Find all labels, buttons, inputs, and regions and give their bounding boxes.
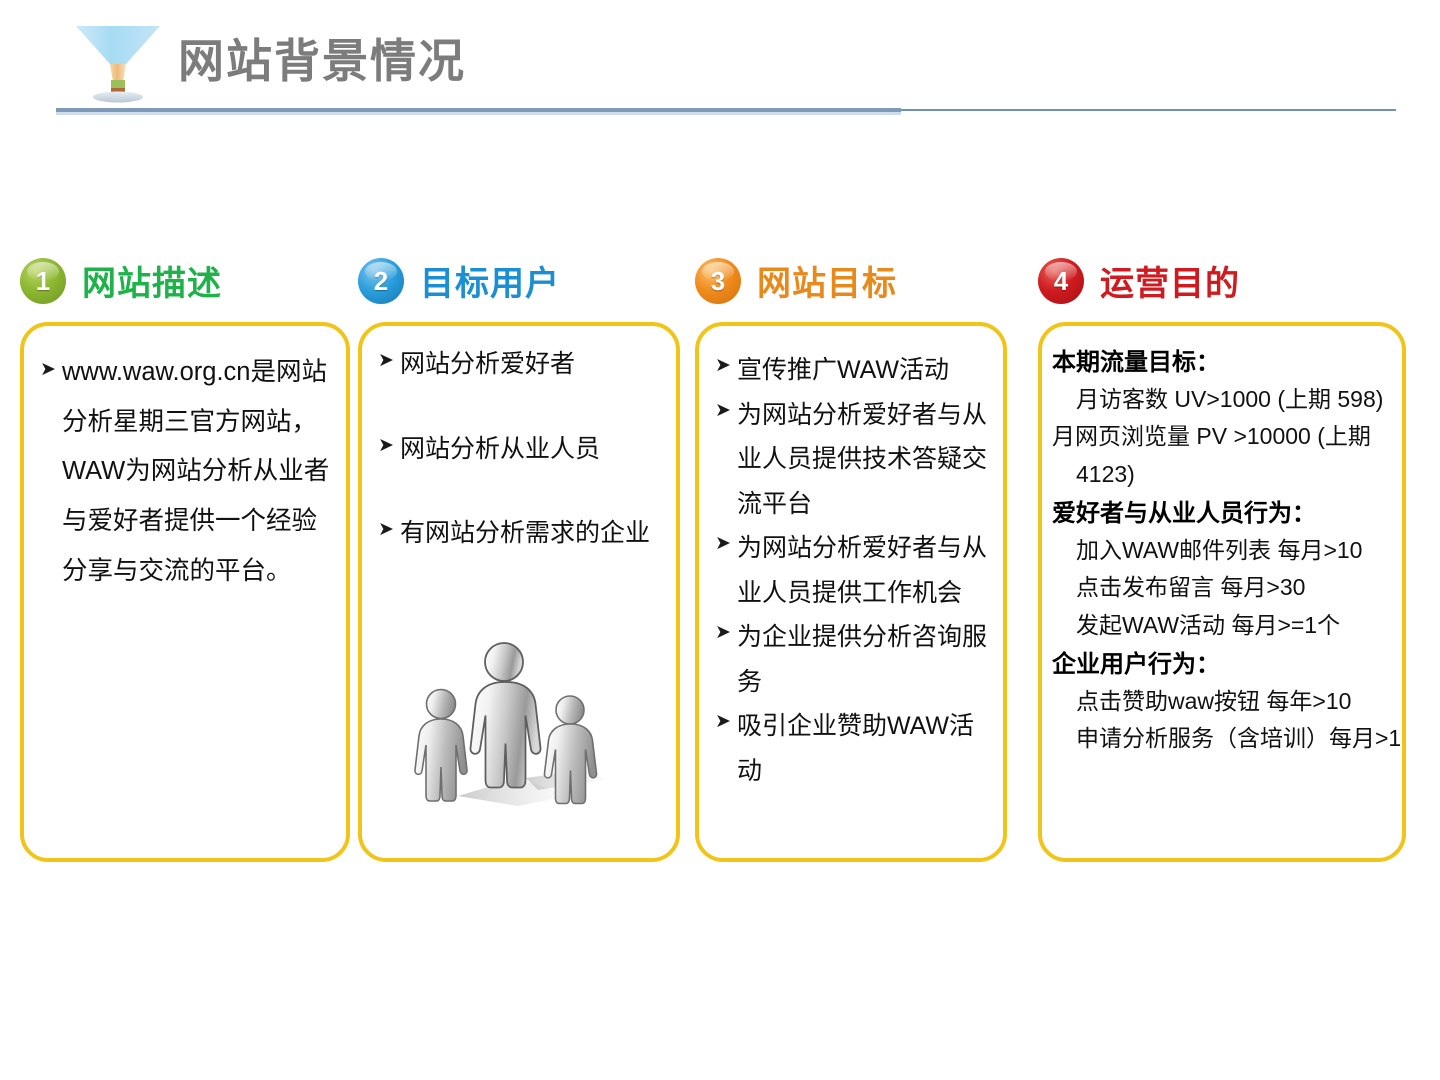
column-4-content: 本期流量目标： 月访客数 UV>1000 (上期 598) 月网页浏览量 PV … <box>1042 326 1402 768</box>
column-3-box: 宣传推广WAW活动 为网站分析爱好者与从业人员提供技术答疑交流平台 为网站分析爱… <box>695 322 1007 862</box>
group-title: 爱好者与从业人员行为： <box>1052 495 1394 532</box>
column-1-content: www.waw.org.cn是网站分析星期三官方网站，WAW为网站分析从业者与爱… <box>24 326 346 607</box>
list-item: 为网站分析爱好者与从业人员提供工作机会 <box>715 526 989 615</box>
metric-item: 月网页浏览量 PV >10000 (上期 4123) <box>1052 418 1394 493</box>
page-title: 网站背景情况 <box>178 36 466 87</box>
list-item: 网站分析爱好者 <box>378 348 662 381</box>
column-3-content: 宣传推广WAW活动 为网站分析爱好者与从业人员提供技术答疑交流平台 为网站分析爱… <box>699 326 1003 803</box>
group-items: 月访客数 UV>1000 (上期 598) 月网页浏览量 PV >10000 (… <box>1052 381 1394 493</box>
step-badge-4: 4 <box>1038 258 1084 304</box>
website-goals-list: 宣传推广WAW活动 为网站分析爱好者与从业人员提供技术答疑交流平台 为网站分析爱… <box>715 348 989 793</box>
list-item: 有网站分析需求的企业 <box>378 517 662 550</box>
group-items: 加入WAW邮件列表 每月>10 点击发布留言 每月>30 发起WAW活动 每月>… <box>1052 532 1394 644</box>
column-1-header: 1 网站描述 <box>20 250 350 312</box>
list-item: 网站分析从业人员 <box>378 433 662 466</box>
column-website-description: 1 网站描述 www.waw.org.cn是网站分析星期三官方网站，WAW为网站… <box>20 250 350 312</box>
step-number: 3 <box>711 266 725 297</box>
step-badge-3: 3 <box>695 258 741 304</box>
divider-right-segment <box>901 109 1396 111</box>
column-4-title: 运营目的 <box>1100 256 1240 305</box>
column-2-box: 网站分析爱好者 网站分析从业人员 有网站分析需求的企业 <box>358 322 680 862</box>
column-operating-objectives: 4 运营目的 本期流量目标： 月访客数 UV>1000 (上期 598) 月网页… <box>1038 250 1406 312</box>
step-number: 2 <box>374 266 388 297</box>
group-title: 企业用户行为： <box>1052 646 1394 683</box>
metric-item: 点击赞助waw按钮 每年>10 <box>1052 683 1394 720</box>
funnel-icon <box>70 20 166 106</box>
slide: 网站背景情况 1 网站描述 www.waw.org.cn是网站分析星期三官方网站… <box>0 0 1440 1080</box>
column-1-title: 网站描述 <box>82 256 222 305</box>
column-2-title: 目标用户 <box>420 256 560 305</box>
metric-item: 发起WAW活动 每月>=1个 <box>1052 607 1394 644</box>
group-title: 本期流量目标： <box>1052 344 1394 381</box>
list-item: 宣传推广WAW活动 <box>715 348 989 393</box>
metric-item: 加入WAW邮件列表 每月>10 <box>1052 532 1394 569</box>
three-people-figures-icon <box>398 628 634 816</box>
divider-left-shadow <box>56 112 901 115</box>
step-badge-1: 1 <box>20 258 66 304</box>
slide-header: 网站背景情况 <box>0 0 1440 120</box>
metric-item: 点击发布留言 每月>30 <box>1052 569 1394 606</box>
column-1-box: www.waw.org.cn是网站分析星期三官方网站，WAW为网站分析从业者与爱… <box>20 322 350 862</box>
target-users-list: 网站分析爱好者 网站分析从业人员 有网站分析需求的企业 <box>378 348 662 550</box>
step-badge-2: 2 <box>358 258 404 304</box>
objective-group-enthusiast-behavior: 爱好者与从业人员行为： 加入WAW邮件列表 每月>10 点击发布留言 每月>30… <box>1052 495 1394 644</box>
list-item: 为网站分析爱好者与从业人员提供技术答疑交流平台 <box>715 393 989 527</box>
column-4-box: 本期流量目标： 月访客数 UV>1000 (上期 598) 月网页浏览量 PV … <box>1038 322 1406 862</box>
column-3-header: 3 网站目标 <box>695 250 1007 312</box>
column-3-title: 网站目标 <box>757 256 897 305</box>
step-number: 1 <box>36 266 50 297</box>
metric-item: 月访客数 UV>1000 (上期 598) <box>1052 381 1394 418</box>
column-2-content: 网站分析爱好者 网站分析从业人员 有网站分析需求的企业 <box>362 326 676 612</box>
group-items: 点击赞助waw按钮 每年>10 申请分析服务（含培训）每月>1 <box>1052 683 1394 758</box>
column-target-users: 2 目标用户 网站分析爱好者 网站分析从业人员 有网站分析需求的企业 <box>358 250 680 312</box>
header-divider <box>56 108 1396 115</box>
step-number: 4 <box>1054 266 1068 297</box>
list-item: 为企业提供分析咨询服务 <box>715 615 989 704</box>
metric-item: 申请分析服务（含培训）每月>1 <box>1052 720 1394 757</box>
objective-group-traffic: 本期流量目标： 月访客数 UV>1000 (上期 598) 月网页浏览量 PV … <box>1052 344 1394 493</box>
objective-group-enterprise-behavior: 企业用户行为： 点击赞助waw按钮 每年>10 申请分析服务（含培训）每月>1 <box>1052 646 1394 758</box>
column-2-header: 2 目标用户 <box>358 250 680 312</box>
column-4-header: 4 运营目的 <box>1038 250 1406 312</box>
column-website-goals: 3 网站目标 宣传推广WAW活动 为网站分析爱好者与从业人员提供技术答疑交流平台… <box>695 250 1007 312</box>
list-item: 吸引企业赞助WAW活动 <box>715 704 989 793</box>
description-paragraph: www.waw.org.cn是网站分析星期三官方网站，WAW为网站分析从业者与爱… <box>40 348 332 597</box>
